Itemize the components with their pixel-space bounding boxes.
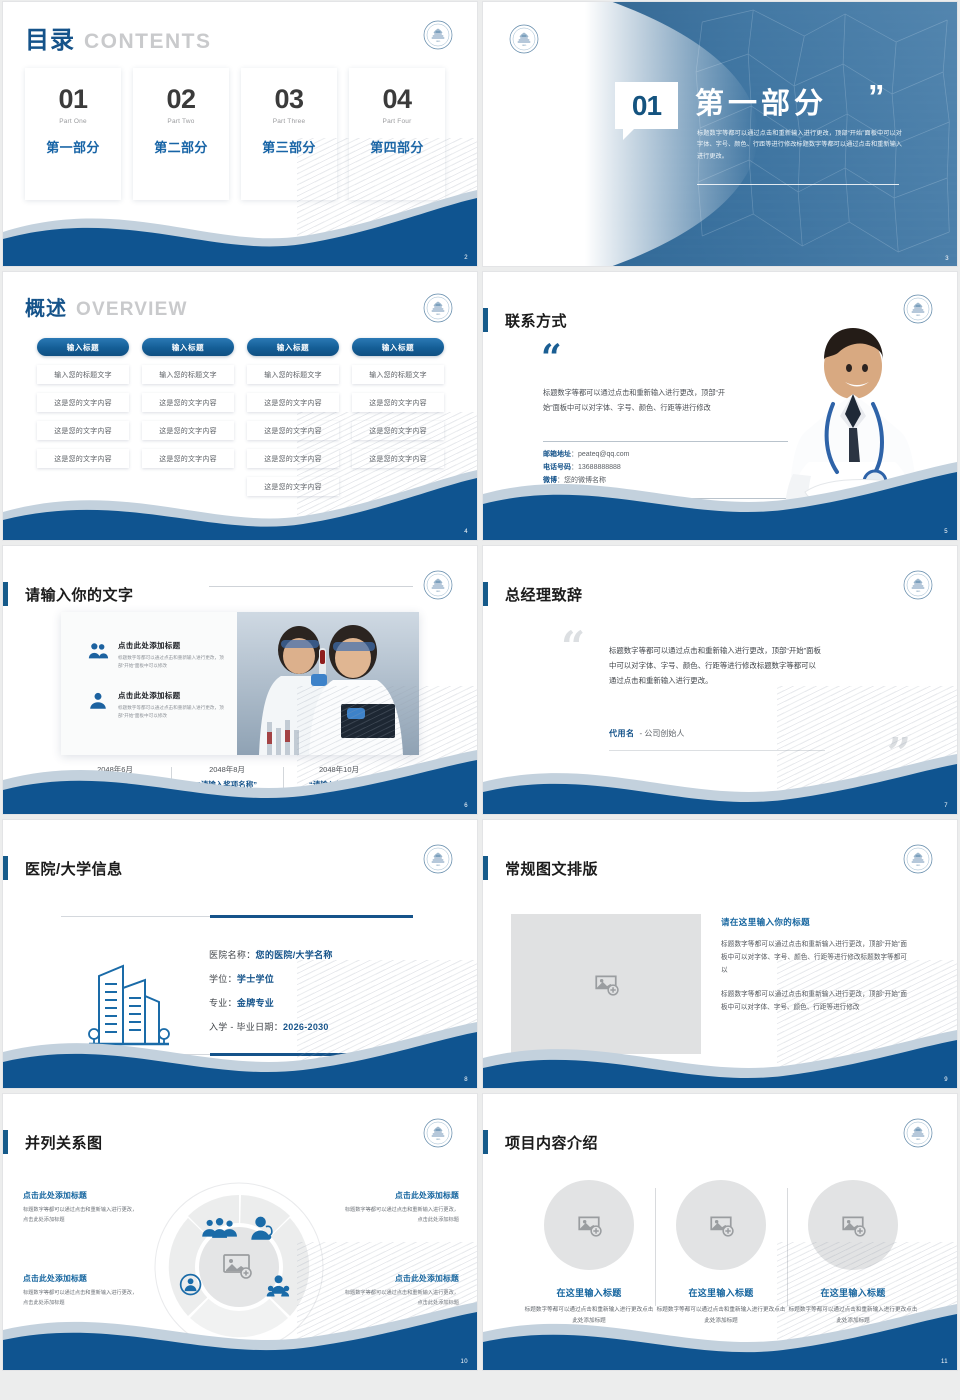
school-seal-icon: 1895 [903, 1118, 933, 1148]
svg-text:1895: 1895 [436, 1139, 441, 1141]
section-subtitle: 请在这里输入你的标题 [721, 916, 907, 928]
slide-title: 常规图文排版 [505, 858, 598, 879]
project-card[interactable]: 在这里输入标题 标题数字等都可以通过点击和重新输入进行更改点击此处添加标题 [787, 1180, 919, 1327]
contents-title-cn: 目录 [25, 20, 75, 55]
overview-title-en: OVERVIEW [76, 299, 188, 321]
column-cell[interactable]: 这是您的文字内容 [142, 393, 234, 412]
panel-item[interactable]: 点击此处添加标题 标题数字等都可以通过点击和重新输入进行更改，顶部“开始”面板中… [87, 640, 230, 670]
title-accent-bar [483, 582, 488, 606]
paragraph: 标题数字等都可以通过点击和重新输入进行更改，顶部“开始”面板中可以对字体、字号、… [721, 938, 907, 978]
info-label: 学位： [209, 974, 237, 984]
overview-column: 输入标题 输入您的标题文字 这是您的文字内容 这是您的文字内容 这是您的文字内容 [37, 338, 129, 496]
panel-item[interactable]: 点击此处添加标题 标题数字等都可以通过点击和重新输入进行更改，顶部“开始”面板中… [87, 690, 230, 720]
content-panel: 点击此处添加标题 标题数字等都可以通过点击和重新输入进行更改，顶部“开始”面板中… [61, 612, 419, 755]
slide-hospital-info[interactable]: 1895 医院/大学信息 [3, 820, 477, 1088]
school-seal-icon: 1895 [423, 570, 453, 600]
quote-open-icon: “ [561, 634, 585, 659]
slide-project-intro[interactable]: 1895 项目内容介绍 在这里输入标题 标题数字等都可以通过点击和重新输入进行更… [483, 1094, 957, 1370]
label-title: 点击此处添加标题 [23, 1273, 139, 1284]
column-cell[interactable]: 这是您的文字内容 [247, 393, 339, 412]
award-name: “请输入奖项名称” [59, 779, 171, 790]
title-rule [209, 586, 413, 587]
contact-value: ：13688888888 [571, 464, 621, 471]
image-placeholder-icon [840, 1212, 866, 1238]
column-header-pill[interactable]: 输入标题 [247, 338, 339, 356]
title-accent-bar [3, 582, 8, 606]
column-cell[interactable]: 输入您的标题文字 [352, 365, 444, 384]
award-name: “请输入奖项名称” [171, 779, 283, 790]
quote-mark-icon: ” [868, 78, 885, 116]
contact-row[interactable]: 微博：您的微博名称 [543, 475, 629, 488]
award-item[interactable]: 2048年6月 “请输入奖项名称” [59, 764, 171, 790]
award-item[interactable]: 2048年8月 “请输入奖项名称” [171, 764, 283, 790]
award-date: 2048年10月 [283, 764, 395, 775]
panel-item-text: 点击此处添加标题 标题数字等都可以通过点击和重新输入进行更改，顶部“开始”面板中… [118, 640, 230, 670]
signer-name: 代用名 [609, 729, 635, 738]
card-desc: 标题数字等都可以通过点击和重新输入进行更改点击此处添加标题 [523, 1305, 655, 1327]
contact-value: ：您的微博名称 [557, 477, 606, 484]
card-image-placeholder[interactable] [544, 1180, 634, 1270]
ceo-paragraph: 标题数字等都可以通过点击和重新输入进行更改，顶部“开始”面板中可以对字体、字号、… [609, 644, 821, 688]
section-title: 第一部分 [695, 80, 827, 122]
slide-contact[interactable]: 1895 联系方式 “ 标题数字等都可以通过点击和重新输入进行更改，顶部“开始”… [483, 272, 957, 540]
signature-rule [609, 750, 825, 751]
column-cell[interactable]: 这是您的文字内容 [142, 449, 234, 468]
column-cell[interactable]: 这是您的文字内容 [37, 449, 129, 468]
column-cell[interactable]: 这是您的文字内容 [37, 421, 129, 440]
svg-text:1895: 1895 [522, 45, 527, 47]
diagram-label[interactable]: 点击此处添加标题 标题数字等都可以通过点击和重新输入进行更改，点击此处添加标题 [343, 1190, 459, 1226]
column-cell[interactable]: 这是您的文字内容 [247, 477, 339, 496]
contents-title-en: CONTENTS [84, 30, 212, 54]
label-desc: 标题数字等都可以通过点击和重新输入进行更改，点击此处添加标题 [343, 1289, 459, 1309]
info-value: 2026-2030 [283, 1022, 329, 1032]
title-accent-bar [483, 308, 488, 332]
rule-top [61, 916, 413, 917]
award-item[interactable]: 2048年10月 “请输入奖项名称” [283, 764, 395, 790]
column-header-pill[interactable]: 输入标题 [37, 338, 129, 356]
card-number: 04 [382, 84, 411, 115]
overview-column: 输入标题 输入您的标题文字 这是您的文字内容 这是您的文字内容 这是您的文字内容 [352, 338, 444, 496]
svg-text:1895: 1895 [916, 315, 921, 317]
person-icon [87, 690, 109, 712]
school-seal-icon: 1895 [423, 20, 453, 50]
school-seal-icon: 1895 [423, 293, 453, 323]
award-date: 2048年6月 [59, 764, 171, 775]
info-rows: 医院名称：您的医院/大学名称 学位：学士学位 专业：金牌专业 入学 - 毕业日期… [209, 948, 333, 1044]
info-value: 金牌专业 [237, 998, 274, 1008]
slide-title: 联系方式 [505, 310, 567, 331]
column-cell[interactable]: 输入您的标题文字 [37, 365, 129, 384]
card-title: 第一部分 [46, 137, 100, 156]
contact-label: 电话号码 [543, 464, 571, 471]
card-title: 第四部分 [370, 137, 424, 156]
users-icon [87, 640, 109, 662]
svg-text:1895: 1895 [916, 591, 921, 593]
page-number: 5 [944, 529, 948, 535]
project-card[interactable]: 在这里输入标题 标题数字等都可以通过点击和重新输入进行更改点击此处添加标题 [655, 1180, 787, 1327]
school-seal-icon: 1895 [903, 844, 933, 874]
section-number-badge: 01 [615, 82, 678, 129]
award-name: “请输入奖项名称” [283, 779, 395, 790]
title-accent-bar [483, 1130, 488, 1154]
card-title: 在这里输入标题 [655, 1286, 787, 1299]
school-seal-icon: 1895 [509, 24, 539, 54]
paragraph: 标题数字等都可以通过点击和重新输入进行更改，顶部“开始”面板中可以对字体、字号、… [721, 988, 907, 1014]
card-title: 第二部分 [154, 137, 208, 156]
awards-row: 2048年6月 “请输入奖项名称” 2048年8月 “请输入奖项名称” 2048… [59, 764, 395, 790]
contact-body-text: 标题数字等都可以通过点击和重新输入进行更改，顶部“开始”面板中可以对字体、字号、… [543, 386, 729, 416]
info-label: 专业： [209, 998, 237, 1008]
label-title: 点击此处添加标题 [343, 1273, 459, 1284]
page-number: 10 [461, 1359, 468, 1365]
info-label: 医院名称： [209, 950, 256, 960]
school-seal-icon: 1895 [903, 570, 933, 600]
contact-label: 微博 [543, 477, 557, 484]
wave-decoration [483, 724, 957, 814]
info-row[interactable]: 医院名称：您的医院/大学名称 [209, 948, 333, 961]
card-part-label: Part Two [167, 118, 194, 125]
overview-column: 输入标题 输入您的标题文字 这是您的文字内容 这是您的文字内容 这是您的文字内容 [142, 338, 234, 496]
project-card[interactable]: 在这里输入标题 标题数字等都可以通过点击和重新输入进行更改点击此处添加标题 [523, 1180, 655, 1327]
contact-label: 邮箱地址 [543, 451, 571, 458]
section-number: 01 [632, 90, 661, 122]
column-cell[interactable]: 这是您的文字内容 [247, 421, 339, 440]
overview-column: 输入标题 输入您的标题文字 这是您的文字内容 这是您的文字内容 这是您的文字内容… [247, 338, 339, 496]
column-cell[interactable]: 这是您的文字内容 [352, 449, 444, 468]
card-part-label: Part One [59, 118, 87, 125]
svg-text:1895: 1895 [916, 1139, 921, 1141]
card-image-placeholder[interactable] [808, 1180, 898, 1270]
overview-header: 概述 OVERVIEW [25, 292, 188, 321]
svg-text:1895: 1895 [436, 591, 441, 593]
card-title: 第三部分 [262, 137, 316, 156]
card-desc: 标题数字等都可以通过点击和重新输入进行更改点击此处添加标题 [787, 1305, 919, 1327]
quote-mark-icon: “ [541, 348, 562, 370]
svg-text:1895: 1895 [436, 41, 441, 43]
page-number: 11 [941, 1359, 948, 1365]
slide-title: 总经理致辞 [505, 584, 583, 605]
label-desc: 标题数字等都可以通过点击和重新输入进行更改，点击此处添加标题 [343, 1206, 459, 1226]
column-header-pill[interactable]: 输入标题 [352, 338, 444, 356]
column-cell[interactable]: 这是您的文字内容 [142, 421, 234, 440]
card-title: 在这里输入标题 [787, 1286, 919, 1299]
quote-close-icon: ” [887, 741, 911, 766]
column-header-pill[interactable]: 输入标题 [142, 338, 234, 356]
column-cell[interactable]: 输入您的标题文字 [247, 365, 339, 384]
signature-line: 代用名- 公司创始人 [609, 728, 684, 739]
award-date: 2048年8月 [171, 764, 283, 775]
info-value: 学士学位 [237, 974, 274, 984]
contact-details: 邮箱地址：peateq@qq.com 电话号码：13688888888 微博：您… [543, 449, 629, 488]
info-row[interactable]: 专业：金牌专业 [209, 996, 333, 1009]
lab-photo [237, 612, 419, 755]
project-card-row: 在这里输入标题 标题数字等都可以通过点击和重新输入进行更改点击此处添加标题 在这… [523, 1180, 919, 1327]
contents-card[interactable]: 01 Part One 第一部分 [25, 68, 121, 200]
column-cell[interactable]: 这是您的文字内容 [352, 421, 444, 440]
title-accent-bar [3, 1130, 8, 1154]
slide-deck: 1895 目录 CONTENTS 01 Part One 第一部分 02 Par… [0, 0, 960, 1400]
panel-item-title: 点击此处添加标题 [118, 690, 230, 701]
school-seal-icon: 1895 [903, 294, 933, 324]
card-number: 02 [166, 84, 195, 115]
contents-header: 目录 CONTENTS [25, 20, 212, 55]
page-number: 3 [945, 256, 949, 262]
label-title: 点击此处添加标题 [23, 1190, 139, 1201]
slide-section-divider[interactable]: 1895 01 第一部分 ” 标题数字等都可以通过点击和重新输入进行更改，顶部“… [483, 2, 957, 266]
image-placeholder[interactable] [511, 914, 701, 1054]
doctor-photo [745, 324, 957, 540]
contents-card[interactable]: 04 Part Four 第四部分 [349, 68, 445, 200]
school-seal-icon: 1895 [423, 844, 453, 874]
contact-row[interactable]: 邮箱地址：peateq@qq.com [543, 449, 629, 462]
slide-title: 并列关系图 [25, 1132, 103, 1153]
slide-title: 医院/大学信息 [25, 858, 123, 879]
building-icon [85, 948, 171, 1048]
label-desc: 标题数字等都可以通过点击和重新输入进行更改，点击此处添加标题 [23, 1206, 139, 1226]
image-placeholder-icon [708, 1212, 734, 1238]
overview-columns: 输入标题 输入您的标题文字 这是您的文字内容 这是您的文字内容 这是您的文字内容… [37, 338, 444, 496]
text-column: 请在这里输入你的标题 标题数字等都可以通过点击和重新输入进行更改，顶部“开始”面… [721, 916, 907, 1014]
label-desc: 标题数字等都可以通过点击和重新输入进行更改，点击此处添加标题 [23, 1289, 139, 1309]
page-number: 4 [464, 529, 468, 535]
page-number: 7 [944, 803, 948, 809]
card-desc: 标题数字等都可以通过点击和重新输入进行更改点击此处添加标题 [655, 1305, 787, 1327]
info-label: 入学 - 毕业日期： [209, 1022, 283, 1032]
donut-diagram[interactable] [154, 1182, 324, 1352]
column-cell[interactable]: 这是您的文字内容 [37, 393, 129, 412]
contact-value: ：peateq@qq.com [571, 451, 629, 458]
school-seal-icon: 1895 [423, 1118, 453, 1148]
page-number: 6 [464, 803, 468, 809]
column-cell[interactable]: 输入您的标题文字 [142, 365, 234, 384]
column-cell[interactable]: 这是您的文字内容 [352, 393, 444, 412]
slide-image-text[interactable]: 1895 常规图文排版 请在这里输入你的标题 标题数字等都可以通过点击和重新输入… [483, 820, 957, 1088]
image-placeholder-icon [576, 1212, 602, 1238]
slide-title: 请输入你的文字 [25, 584, 134, 605]
panel-item-desc: 标题数字等都可以通过点击和重新输入进行更改，顶部“开始”面板中可以修改 [118, 704, 230, 720]
info-row[interactable]: 入学 - 毕业日期：2026-2030 [209, 1020, 333, 1033]
signer-role: - 公司创始人 [640, 729, 685, 738]
slide-overview[interactable]: 1895 概述 OVERVIEW 输入标题 输入您的标题文字 这是您的文字内容 … [3, 272, 477, 540]
card-number: 01 [58, 84, 87, 115]
hatch-decoration [777, 686, 957, 796]
diagram-label[interactable]: 点击此处添加标题 标题数字等都可以通过点击和重新输入进行更改，点击此处添加标题 [23, 1273, 139, 1309]
underline-rule [697, 184, 899, 185]
label-title: 点击此处添加标题 [343, 1190, 459, 1201]
panel-item-title: 点击此处添加标题 [118, 640, 230, 651]
contents-card[interactable]: 02 Part Two 第二部分 [133, 68, 229, 200]
overview-title-cn: 概述 [25, 292, 67, 321]
slide-title: 项目内容介绍 [505, 1132, 598, 1153]
panel-item-desc: 标题数字等都可以通过点击和重新输入进行更改，顶部“开始”面板中可以修改 [118, 654, 230, 670]
card-title: 在这里输入标题 [523, 1286, 655, 1299]
rule-bottom [61, 1054, 413, 1055]
card-part-label: Part Four [383, 118, 412, 125]
column-cell[interactable]: 这是您的文字内容 [247, 449, 339, 468]
card-image-placeholder[interactable] [676, 1180, 766, 1270]
image-placeholder-icon [593, 971, 619, 997]
diagram-label[interactable]: 点击此处添加标题 标题数字等都可以通过点击和重新输入进行更改，点击此处添加标题 [343, 1273, 459, 1309]
svg-text:1895: 1895 [436, 314, 441, 316]
section-description: 标题数字等都可以通过点击和重新输入进行更改，顶部“开始”面板中可以对字体、字号、… [697, 128, 902, 162]
card-number: 03 [274, 84, 303, 115]
svg-text:1895: 1895 [916, 865, 921, 867]
page-number: 8 [464, 1077, 468, 1083]
slide-contents[interactable]: 1895 目录 CONTENTS 01 Part One 第一部分 02 Par… [3, 2, 477, 266]
slide-parallel-diagram[interactable]: 1895 并列关系图 [3, 1094, 477, 1370]
contents-card[interactable]: 03 Part Three 第三部分 [241, 68, 337, 200]
title-accent-bar [483, 856, 488, 880]
page-number: 9 [944, 1077, 948, 1083]
contents-card-list: 01 Part One 第一部分 02 Part Two 第二部分 03 Par… [25, 68, 445, 200]
panel-item-text: 点击此处添加标题 标题数字等都可以通过点击和重新输入进行更改，顶部“开始”面板中… [118, 690, 230, 720]
diagram-label[interactable]: 点击此处添加标题 标题数字等都可以通过点击和重新输入进行更改，点击此处添加标题 [23, 1190, 139, 1226]
slide-ceo-address[interactable]: 1895 总经理致辞 “ 标题数字等都可以通过点击和重新输入进行更改，顶部“开始… [483, 546, 957, 814]
page-number: 2 [464, 255, 468, 261]
card-part-label: Part Three [273, 118, 306, 125]
svg-text:1895: 1895 [436, 865, 441, 867]
info-row[interactable]: 学位：学士学位 [209, 972, 333, 985]
title-accent-bar [3, 856, 8, 880]
contact-row[interactable]: 电话号码：13688888888 [543, 462, 629, 475]
info-value: 您的医院/大学名称 [256, 950, 333, 960]
slide-text-with-photo[interactable]: 1895 请输入你的文字 [3, 546, 477, 814]
